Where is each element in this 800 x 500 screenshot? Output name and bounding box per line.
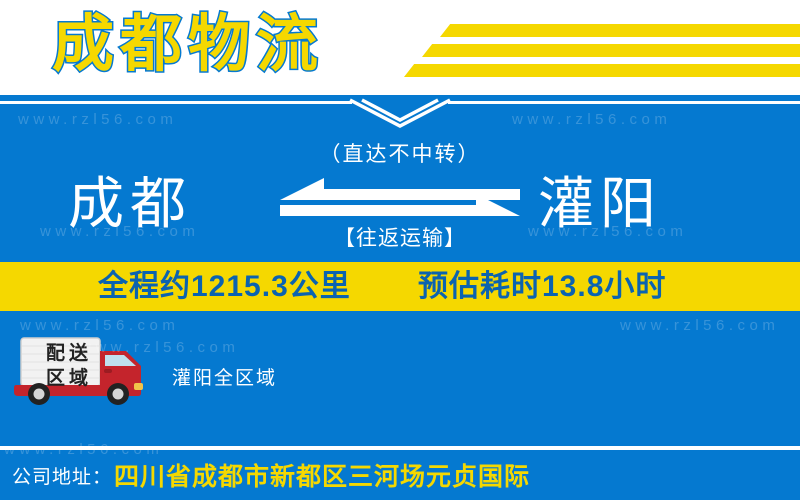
- chevron-down-icon: [348, 96, 452, 132]
- header-band: 成都物流: [0, 0, 800, 95]
- divider-line-left: [0, 101, 352, 104]
- stripe-2: [422, 44, 800, 57]
- watermark-text: www.rzl56.com: [18, 110, 177, 130]
- decorative-stripes: [380, 6, 800, 76]
- coverage-area-text: 灌阳全区域: [172, 366, 277, 392]
- stripe-1: [440, 24, 800, 37]
- distance-stat: 全程约1215.3公里: [98, 262, 351, 311]
- brand-title: 成都物流: [52, 4, 324, 86]
- roundtrip-note: 【往返运输】: [0, 224, 800, 254]
- stripe-3: [404, 64, 800, 77]
- destination-city: 灌阳: [538, 168, 662, 240]
- direct-shipping-note: （直达不中转）: [0, 140, 800, 170]
- address-label: 公司地址：: [12, 462, 112, 489]
- duration-stat: 预估耗时13.8小时: [418, 262, 666, 311]
- delivery-truck-icon: [8, 333, 154, 405]
- bidirectional-arrow-icon: [280, 176, 520, 220]
- watermark-text: www.rzl56.com: [512, 110, 671, 130]
- divider-line-right: [448, 101, 800, 104]
- watermark-text: www.rzl56.com: [620, 316, 779, 336]
- logistics-banner: 成都物流 成都 （直达不中转） 【往返运输】 灌阳 全程约1215.3公里 预估…: [0, 0, 800, 500]
- stats-band: 全程约1215.3公里 预估耗时13.8小时: [0, 262, 800, 311]
- address-value: 四川省成都市新都区三河场元贞国际: [114, 457, 530, 493]
- address-bar: 公司地址： 四川省成都市新都区三河场元贞国际: [0, 450, 800, 500]
